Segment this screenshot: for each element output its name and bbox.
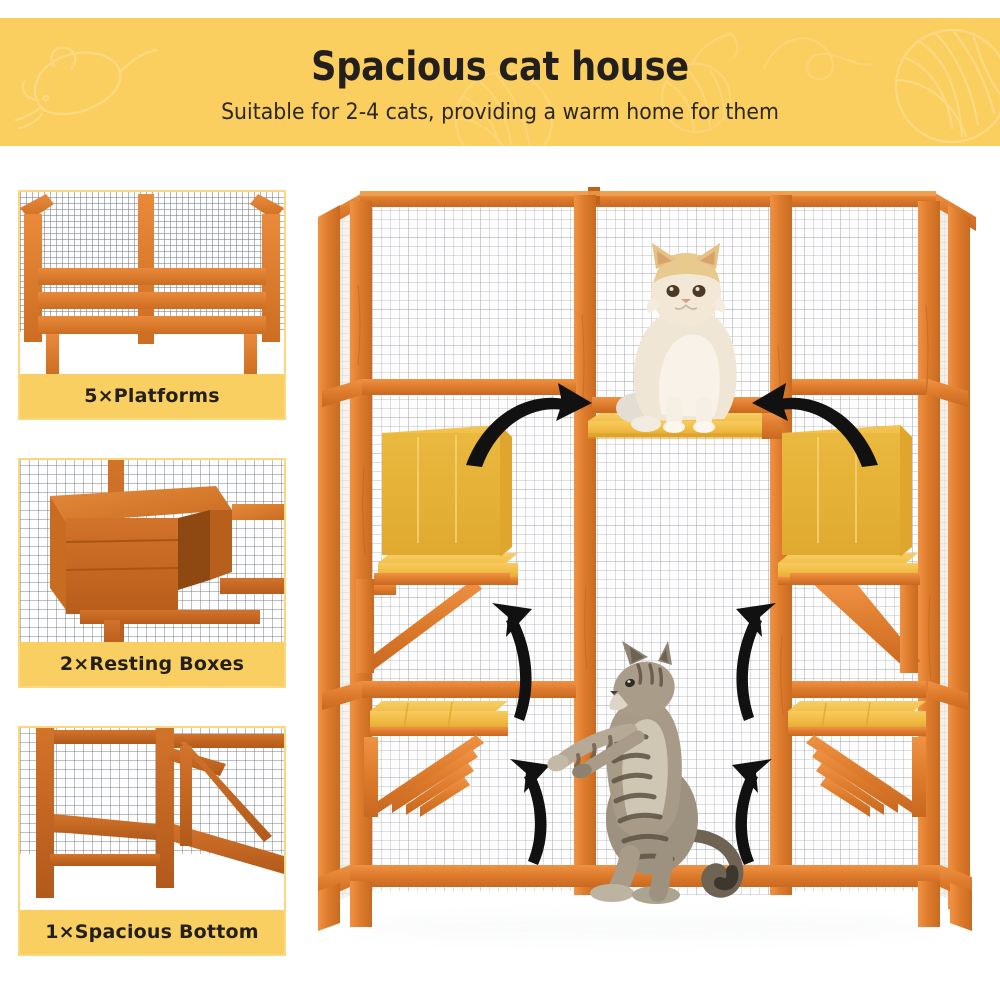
header-banner: Spacious cat house Suitable for 2-4 cats… bbox=[0, 18, 1000, 146]
hero-product-image bbox=[300, 165, 990, 985]
feature-photo-platforms bbox=[20, 192, 284, 378]
feature-caption-platforms: 5×Platforms bbox=[20, 374, 284, 418]
feature-card-spacious-bottom[interactable]: 1×Spacious Bottom bbox=[18, 726, 286, 956]
feature-caption-resting-boxes: 2×Resting Boxes bbox=[20, 642, 284, 686]
feature-card-resting-boxes[interactable]: 2×Resting Boxes bbox=[18, 458, 286, 688]
feature-photo-resting-boxes bbox=[20, 460, 284, 646]
page-subtitle: Suitable for 2-4 cats, providing a warm … bbox=[35, 100, 965, 125]
feature-caption-spacious-bottom: 1×Spacious Bottom bbox=[20, 910, 284, 954]
feature-card-platforms[interactable]: 5×Platforms bbox=[18, 190, 286, 420]
product-infographic-page: Spacious cat house Suitable for 2-4 cats… bbox=[0, 0, 1000, 1000]
feature-photo-spacious-bottom bbox=[20, 728, 284, 914]
catio-illustration bbox=[300, 165, 990, 985]
page-title: Spacious cat house bbox=[60, 44, 940, 90]
feature-card-list: 5×Platforms bbox=[18, 190, 290, 994]
